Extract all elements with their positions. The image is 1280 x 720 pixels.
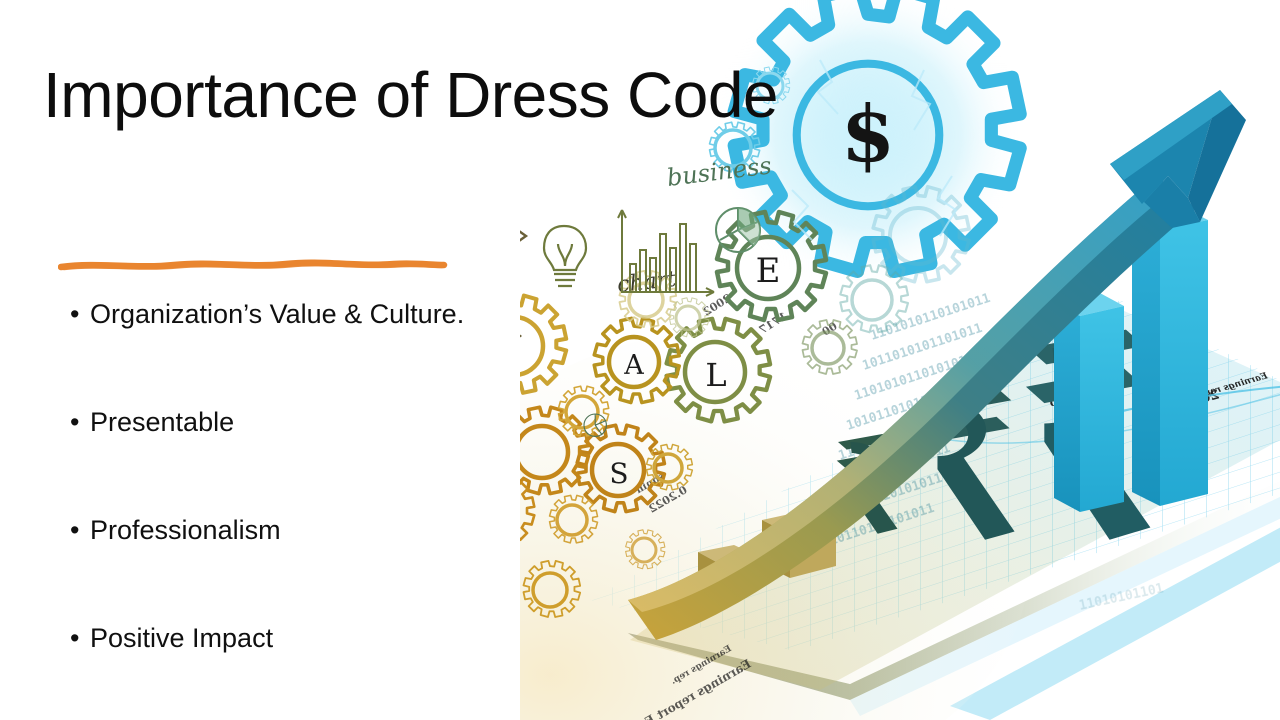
svg-text:$: $: [841, 89, 895, 180]
list-item: • Professionalism: [70, 516, 590, 624]
gear-E-label: E: [756, 251, 781, 291]
orange-wavy-divider: [58, 256, 448, 276]
gear-L-label: L: [705, 356, 726, 394]
gear-A-label: A: [623, 350, 644, 381]
bullet-text: Positive Impact: [90, 624, 273, 654]
list-item: • Organization’s Value & Culture.: [70, 300, 590, 408]
bullet-marker: •: [70, 300, 90, 330]
bullet-marker: •: [70, 408, 90, 438]
lightbulb-icon: [544, 226, 586, 286]
gear-S-label: S: [609, 457, 628, 490]
bullet-marker: •: [70, 624, 90, 654]
bullet-text: Professionalism: [90, 516, 281, 546]
presentation-slide: Earnings report Earnings Earnings rep. 2…: [0, 0, 1280, 720]
pie-chart-icon: [716, 208, 760, 252]
dollar-symbol: $: [841, 89, 895, 180]
bullet-text: Organization’s Value & Culture.: [90, 300, 464, 330]
bullet-list: • Organization’s Value & Culture. • Pres…: [70, 300, 590, 720]
slide-title: Importance of Dress Code: [43, 62, 778, 129]
list-item: • Positive Impact: [70, 624, 590, 720]
bullet-text: Presentable: [90, 408, 234, 438]
list-item: • Presentable: [70, 408, 590, 516]
bullet-marker: •: [70, 516, 90, 546]
gear-pale-2: [670, 298, 709, 337]
